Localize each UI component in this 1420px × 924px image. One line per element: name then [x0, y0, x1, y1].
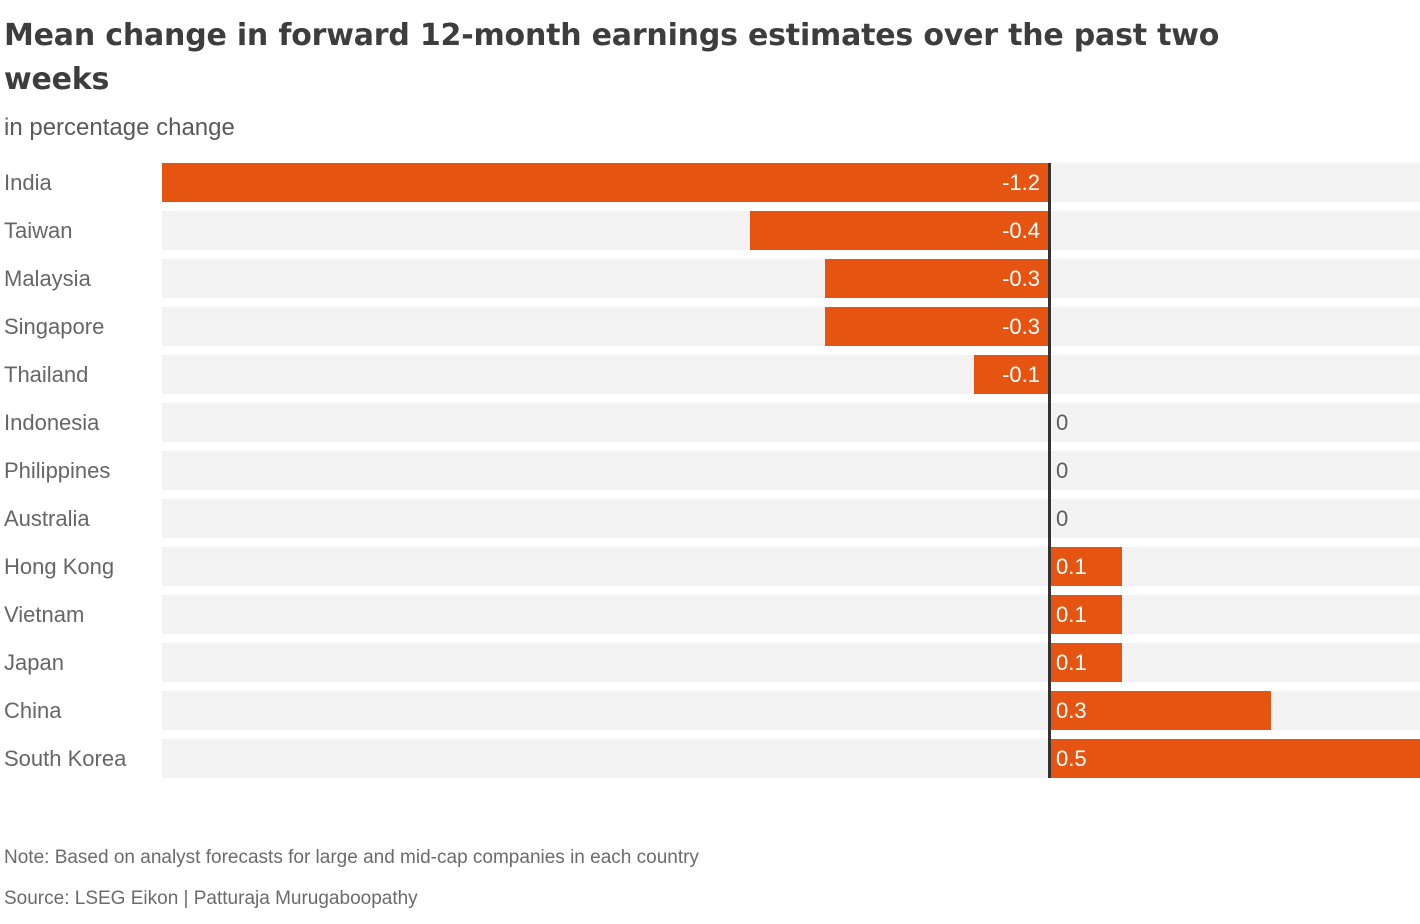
bar-track: 0	[162, 451, 1420, 490]
bar-track: -0.3	[162, 259, 1420, 298]
bar-track: -0.4	[162, 211, 1420, 250]
bar-value-label: 0.1	[1056, 643, 1087, 682]
chart-footer: Note: Based on analyst forecasts for lar…	[0, 848, 699, 924]
bar-row: Hong Kong0.1	[0, 547, 1420, 595]
category-label: Vietnam	[4, 595, 84, 634]
bar-row: Vietnam0.1	[0, 595, 1420, 643]
bar-track: 0	[162, 403, 1420, 442]
bar-row: Australia0	[0, 499, 1420, 547]
chart-subtitle: in percentage change	[0, 101, 1420, 141]
bar-row: Philippines0	[0, 451, 1420, 499]
category-label: Taiwan	[4, 211, 72, 250]
category-label: India	[4, 163, 52, 202]
bar-track: 0.3	[162, 691, 1420, 730]
category-label: Australia	[4, 499, 90, 538]
bar-track: 0.1	[162, 595, 1420, 634]
category-label: Indonesia	[4, 403, 99, 442]
bar-value-label: 0	[1056, 499, 1068, 538]
bar-row: Malaysia-0.3	[0, 259, 1420, 307]
category-label: Thailand	[4, 355, 88, 394]
bar-track: 0.1	[162, 547, 1420, 586]
bar-value-label: -0.4	[162, 211, 1040, 250]
bar-track: 0.1	[162, 643, 1420, 682]
bar-value-label: 0	[1056, 403, 1068, 442]
value-bar[interactable]	[1048, 739, 1420, 778]
bar-row: Taiwan-0.4	[0, 211, 1420, 259]
footnote-source: Source: LSEG Eikon | Patturaja Murugaboo…	[4, 889, 699, 910]
bar-row: South Korea0.5	[0, 739, 1420, 787]
bar-value-label: 0	[1056, 451, 1068, 490]
category-label: Philippines	[4, 451, 110, 490]
category-label: Japan	[4, 643, 64, 682]
bar-row: Japan0.1	[0, 643, 1420, 691]
category-label: Singapore	[4, 307, 104, 346]
bar-row: India-1.2	[0, 163, 1420, 211]
bar-value-label: -0.3	[162, 307, 1040, 346]
bar-track: 0.5	[162, 739, 1420, 778]
bar-value-label: -0.1	[162, 355, 1040, 394]
bar-value-label: 0.1	[1056, 595, 1087, 634]
bar-track: 0	[162, 499, 1420, 538]
bar-value-label: 0.3	[1056, 691, 1087, 730]
bar-row: Indonesia0	[0, 403, 1420, 451]
bar-track: -0.3	[162, 307, 1420, 346]
bar-value-label: 0.5	[1056, 739, 1087, 778]
category-label: Malaysia	[4, 259, 91, 298]
bar-row: Thailand-0.1	[0, 355, 1420, 403]
chart-plot-area: India-1.2Taiwan-0.4Malaysia-0.3Singapore…	[0, 163, 1420, 783]
bar-value-label: 0.1	[1056, 547, 1087, 586]
category-label: South Korea	[4, 739, 126, 778]
zero-axis-line	[1048, 163, 1051, 778]
category-label: China	[4, 691, 61, 730]
bar-rows: India-1.2Taiwan-0.4Malaysia-0.3Singapore…	[0, 163, 1420, 787]
bar-row: Singapore-0.3	[0, 307, 1420, 355]
bar-track: -1.2	[162, 163, 1420, 202]
bar-track: -0.1	[162, 355, 1420, 394]
chart-header: Mean change in forward 12-month earnings…	[0, 0, 1420, 141]
bar-row: China0.3	[0, 691, 1420, 739]
footnote-note: Note: Based on analyst forecasts for lar…	[4, 848, 699, 889]
page-title: Mean change in forward 12-month earnings…	[0, 0, 1314, 101]
bar-value-label: -0.3	[162, 259, 1040, 298]
category-label: Hong Kong	[4, 547, 114, 586]
bar-value-label: -1.2	[162, 163, 1040, 202]
